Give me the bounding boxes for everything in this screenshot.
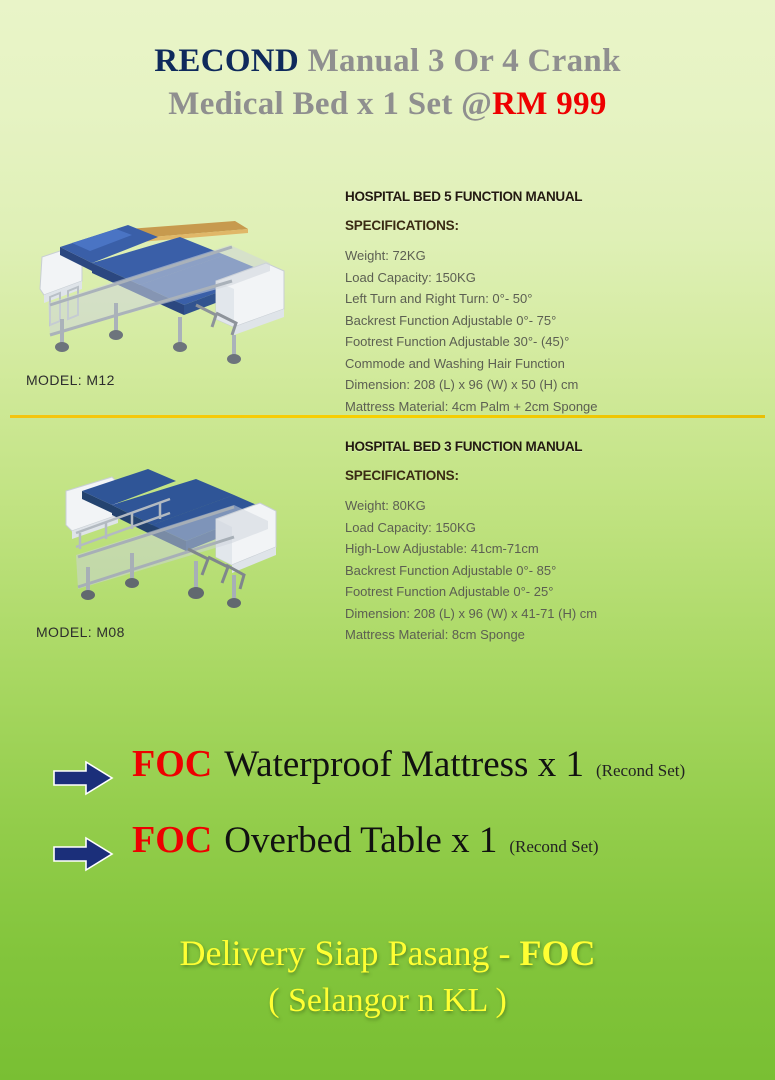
spec-column-m08: HOSPITAL BED 3 FUNCTION MANUAL SPECIFICA…	[345, 439, 745, 646]
foc-list: FOC Waterproof Mattress x 1 (Recond Set)…	[0, 742, 775, 894]
spec-item: Load Capacity: 150KG	[345, 517, 745, 539]
foc-note: (Recond Set)	[596, 761, 685, 781]
spec-item: Dimension: 208 (L) x 96 (W) x 50 (H) cm	[345, 374, 745, 396]
title-line-1: RECOND Manual 3 Or 4 Crank	[0, 40, 775, 83]
model-label-m12: MODEL: M12	[26, 372, 115, 388]
spec-item: Footrest Function Adjustable 0°- 25°	[345, 581, 745, 603]
spec-item: Footrest Function Adjustable 30°- (45)°	[345, 331, 745, 353]
price-text: RM 999	[492, 86, 607, 122]
delivery-line-2: ( Selangor n KL )	[0, 978, 775, 1024]
spec-title-m08: HOSPITAL BED 3 FUNCTION MANUAL	[345, 439, 745, 454]
spec-item: Mattress Material: 8cm Sponge	[345, 624, 745, 646]
flyer-page: RECOND Manual 3 Or 4 Crank Medical Bed x…	[0, 0, 775, 1080]
bed-illustration-m08	[20, 437, 320, 627]
title-line-1-rest: Manual 3 Or 4 Crank	[299, 43, 621, 79]
arrow-right-icon	[52, 760, 114, 801]
delivery-line-1-a: Delivery Siap Pasang -	[180, 933, 520, 973]
title-line-2: Medical Bed x 1 Set @RM 999	[0, 83, 775, 126]
foc-tag: FOC	[132, 818, 212, 862]
spec-column-m12: HOSPITAL BED 5 FUNCTION MANUAL SPECIFICA…	[345, 189, 745, 417]
section-divider	[10, 415, 765, 418]
page-title: RECOND Manual 3 Or 4 Crank Medical Bed x…	[0, 0, 775, 126]
foc-tag: FOC	[132, 742, 212, 786]
spec-item: Load Capacity: 150KG	[345, 267, 745, 289]
spec-item: Commode and Washing Hair Function	[345, 353, 745, 375]
spec-item: Weight: 80KG	[345, 495, 745, 517]
delivery-note: Delivery Siap Pasang - FOC ( Selangor n …	[0, 930, 775, 1024]
delivery-line-1: Delivery Siap Pasang - FOC	[0, 930, 775, 976]
spec-item: Left Turn and Right Turn: 0°- 50°	[345, 288, 745, 310]
bed-illustration-m12	[20, 185, 320, 375]
bed-m12-svg	[20, 185, 320, 375]
title-line-2-grey: Medical Bed x 1 Set @	[168, 86, 492, 122]
spec-list-m12: Weight: 72KG Load Capacity: 150KG Left T…	[345, 245, 745, 417]
spec-item: Mattress Material: 4cm Palm + 2cm Sponge	[345, 396, 745, 418]
spec-list-m08: Weight: 80KG Load Capacity: 150KG High-L…	[345, 495, 745, 646]
foc-text: Waterproof Mattress x 1	[224, 743, 584, 786]
spec-item: Backrest Function Adjustable 0°- 85°	[345, 560, 745, 582]
product-block-m08: MODEL: M08 HOSPITAL BED 3 FUNCTION MANUA…	[0, 425, 775, 670]
spec-item: Backrest Function Adjustable 0°- 75°	[345, 310, 745, 332]
spec-subtitle-m08: SPECIFICATIONS:	[345, 468, 745, 483]
model-label-m08: MODEL: M08	[36, 624, 125, 640]
spec-item: Weight: 72KG	[345, 245, 745, 267]
foc-note: (Recond Set)	[509, 837, 598, 857]
product-block-m12: MODEL: M12 HOSPITAL BED 5 FUNCTION MANUA…	[0, 175, 775, 410]
arrow-right-icon	[52, 836, 114, 877]
brand-word: RECOND	[154, 43, 299, 79]
foc-row-table: FOC Overbed Table x 1 (Recond Set)	[0, 818, 775, 894]
spec-title-m12: HOSPITAL BED 5 FUNCTION MANUAL	[345, 189, 745, 204]
spec-item: Dimension: 208 (L) x 96 (W) x 41-71 (H) …	[345, 603, 745, 625]
foc-row-mattress: FOC Waterproof Mattress x 1 (Recond Set)	[0, 742, 775, 818]
spec-subtitle-m12: SPECIFICATIONS:	[345, 218, 745, 233]
foc-text: Overbed Table x 1	[224, 819, 497, 862]
delivery-line-1-b: FOC	[519, 933, 595, 973]
bed-m08-svg	[20, 437, 320, 627]
spec-item: High-Low Adjustable: 41cm-71cm	[345, 538, 745, 560]
